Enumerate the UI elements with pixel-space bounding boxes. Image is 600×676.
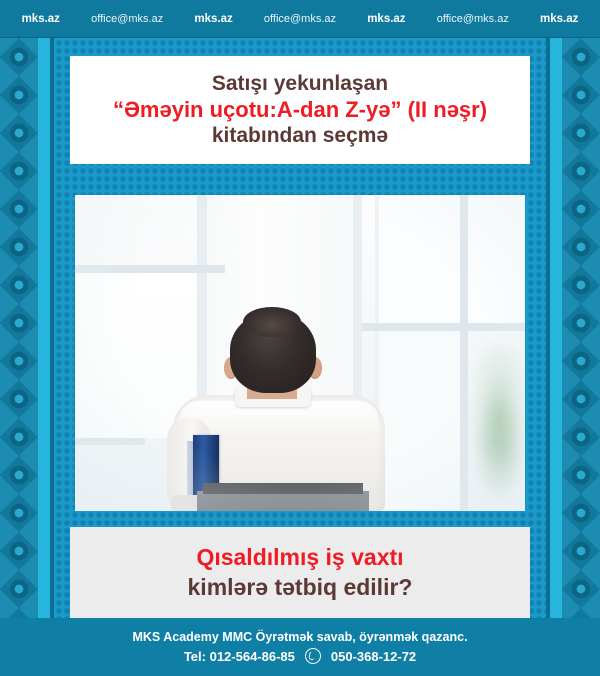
photo-man-looking-at-clock: 12 1 2 3 4 5 6 7 8 9 10 11 — [75, 195, 525, 511]
accent-stripe-edge-right — [546, 0, 550, 676]
header-item-email-1: office@mks.az — [91, 13, 163, 25]
question-line-2: kimlərə tətbiq edilir? — [188, 573, 413, 603]
poster-root: mks.az office@mks.az mks.az office@mks.a… — [0, 0, 600, 676]
footer-bar: MKS Academy MMC Öyrətmək savab, öyrənmək… — [0, 618, 600, 676]
header-item-site-1: mks.az — [22, 13, 60, 25]
question-box: Qısaldılmış iş vaxtı kimlərə tətbiq edil… — [70, 527, 530, 618]
title-box: Satışı yekunlaşan “Əməyin uçotu:A-dan Z-… — [70, 56, 530, 164]
question-line-1: Qısaldılmış iş vaxtı — [196, 543, 403, 573]
header-bar: mks.az office@mks.az mks.az office@mks.a… — [0, 0, 600, 38]
title-line-1: Satışı yekunlaşan — [212, 71, 388, 97]
footer-tagline: MKS Academy MMC Öyrətmək savab, öyrənmək… — [132, 628, 467, 647]
title-line-2: “Əməyin uçotu:A-dan Z-yə” (II nəşr) — [113, 97, 487, 124]
footer-phone-label: Tel: 012-564-86-85 — [184, 647, 295, 667]
ornamental-border-right — [562, 0, 600, 676]
title-line-3: kitabından seçmə — [212, 123, 388, 149]
footer-whatsapp-number: 050-368-12-72 — [331, 647, 416, 667]
photo-vignette — [75, 195, 525, 511]
header-item-site-2: mks.az — [194, 13, 232, 25]
header-item-email-2: office@mks.az — [264, 13, 336, 25]
ornamental-border-left — [0, 0, 38, 676]
accent-stripe-right — [550, 0, 562, 676]
footer-contact-row: Tel: 012-564-86-85 050-368-12-72 — [184, 647, 416, 667]
accent-stripe-left — [38, 0, 50, 676]
header-item-email-3: office@mks.az — [437, 13, 509, 25]
header-item-site-3: mks.az — [367, 13, 405, 25]
accent-stripe-edge-left — [50, 0, 54, 676]
header-item-site-4: mks.az — [540, 13, 578, 25]
whatsapp-icon — [305, 648, 321, 664]
